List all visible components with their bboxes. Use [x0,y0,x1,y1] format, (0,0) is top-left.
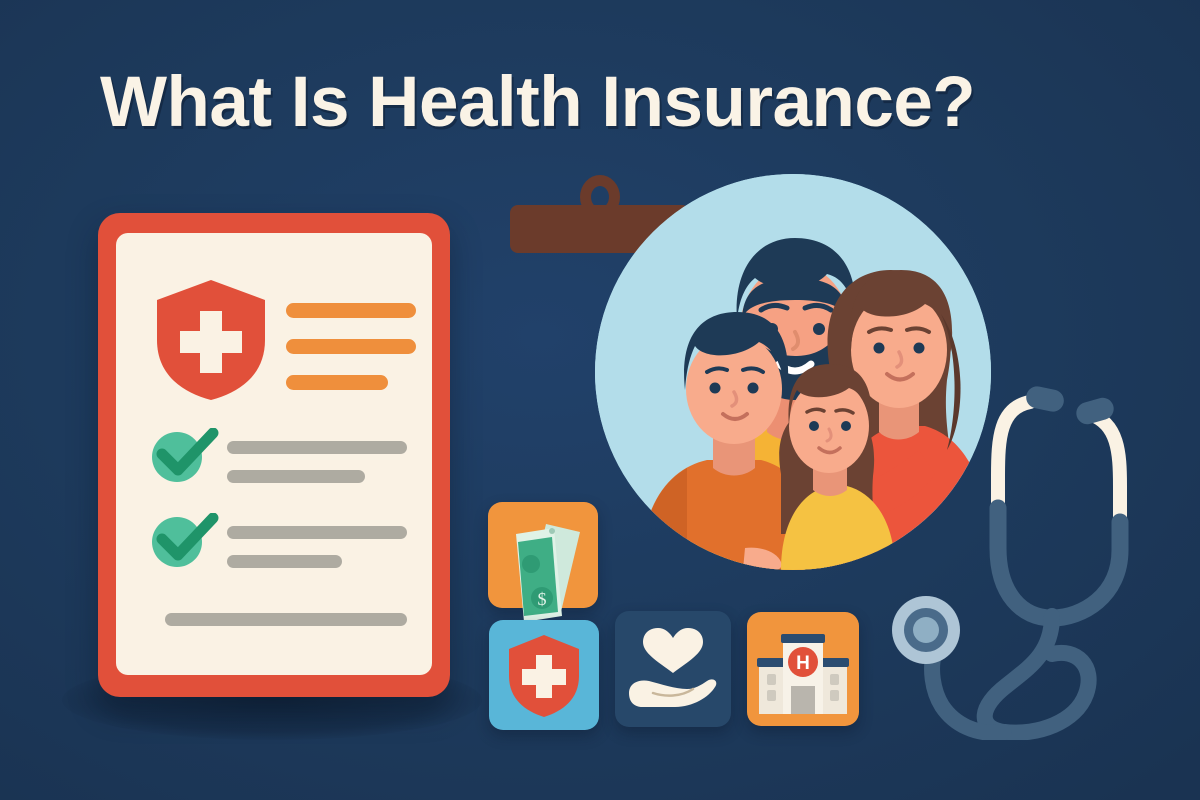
stethoscope-illustration [880,368,1180,740]
form-text-line [227,470,365,483]
form-text-line [227,441,407,454]
form-header-line [286,339,416,354]
page-title: What Is Health Insurance? [100,62,1100,143]
banknotes-icon: $ [496,512,592,622]
hospital-tile[interactable]: H [747,612,859,726]
medical-shield-icon [155,278,267,402]
form-text-line [227,526,407,539]
checkbox-checked[interactable] [152,432,202,482]
form-text-line [227,555,342,568]
form-header-line [286,375,388,390]
hospital-h-label: H [796,653,810,674]
hospital-building-icon: H [757,624,849,716]
heart-in-hand-icon [627,627,719,711]
medical-shield-icon [507,634,581,718]
health-insurance-hero-banner: What Is Health Insurance? [0,0,1200,800]
shield-tile[interactable] [489,620,599,730]
form-header-line [286,303,416,318]
money-tile[interactable]: $ [488,502,598,608]
form-footer-line [165,613,407,626]
checkbox-checked[interactable] [152,517,202,567]
svg-text:$: $ [538,589,547,609]
care-tile[interactable] [615,611,731,727]
